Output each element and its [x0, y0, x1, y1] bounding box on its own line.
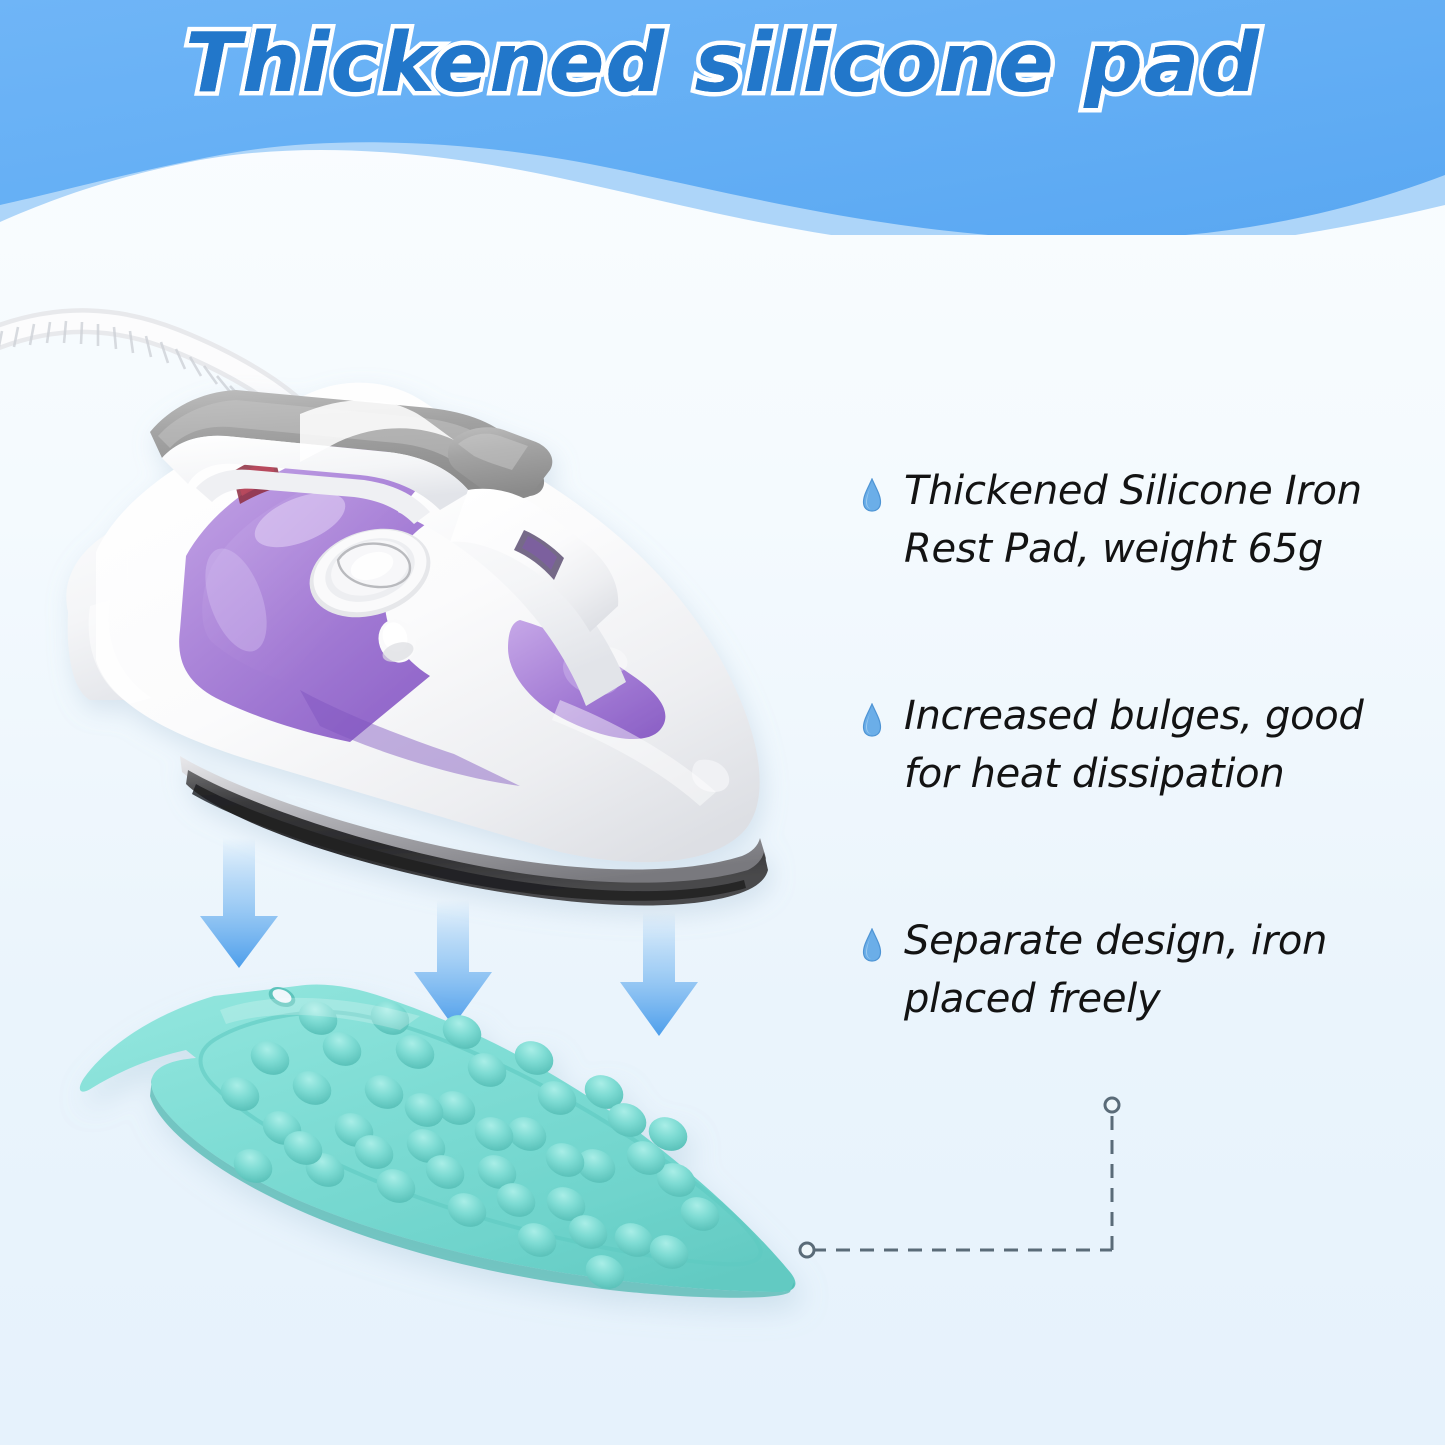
feature-list: Thickened Silicone Iron Rest Pad, weight…	[862, 462, 1422, 1028]
iron-drop-bullet-icon	[862, 478, 882, 512]
placement-arrows-group	[200, 838, 698, 1036]
dimension-callout-line	[800, 1098, 1119, 1257]
page-title-outline: Thickened silicone pad	[0, 16, 1445, 111]
header-banner: Thickened silicone pad Thickened silicon…	[0, 0, 1445, 235]
feature-text: Increased bulges, good for heat dissipat…	[904, 687, 1422, 804]
feature-text: Thickened Silicone Iron Rest Pad, weight…	[904, 462, 1422, 579]
iron-power-cord	[0, 321, 300, 422]
pad-hang-hole	[266, 983, 299, 1011]
list-item: Increased bulges, good for heat dissipat…	[862, 687, 1422, 804]
list-item: Separate design, iron placed freely	[862, 912, 1422, 1029]
iron-drop-bullet-icon	[862, 703, 882, 737]
silicone-iron-rest-pad	[80, 983, 796, 1298]
pad-bumps-group	[215, 995, 725, 1295]
temperature-dial	[298, 514, 442, 632]
infographic-canvas: Thickened silicone pad Thickened silicon…	[0, 0, 1445, 1445]
placement-arrow	[200, 838, 278, 968]
list-item: Thickened Silicone Iron Rest Pad, weight…	[862, 462, 1422, 579]
iron-drop-bullet-icon	[862, 928, 882, 962]
steam-iron	[66, 383, 768, 906]
placement-arrow	[414, 900, 492, 1026]
placement-arrow	[620, 912, 698, 1036]
feature-text: Separate design, iron placed freely	[904, 912, 1422, 1029]
